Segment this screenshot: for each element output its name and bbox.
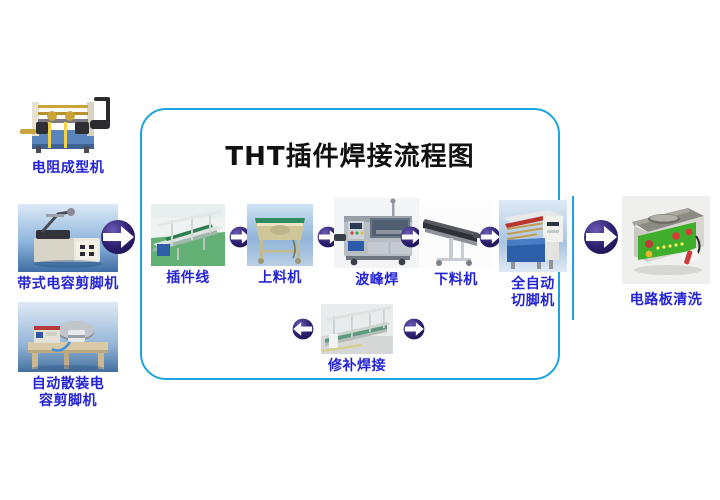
arrow-into-flow-icon [100, 219, 136, 255]
diagram-canvas: 电阻成型机 [0, 0, 720, 500]
pcb-cleaner-illustration [622, 196, 710, 284]
arrow-out-of-flow-icon [583, 219, 619, 255]
input-item-resistor-forming-machine: 电阻成型机 [12, 82, 124, 177]
rework-soldering-line-image [321, 304, 393, 354]
arrow-rework-out-icon [403, 318, 425, 340]
input-item-label: 电阻成型机 [32, 160, 105, 177]
pcb-cleaner-image [622, 196, 710, 284]
page-title: THT插件焊接流程图 [140, 136, 560, 173]
flow-step-label: 下料机 [434, 272, 478, 289]
output-item-label: 电路板清洗 [630, 292, 703, 309]
insertion-line-image [151, 204, 225, 266]
arrow-rework-in-icon [292, 318, 314, 340]
loader-illustration [247, 204, 313, 266]
flow-step-insertion-line: 插件线 [150, 204, 226, 287]
auto-lead-cutter-image [499, 200, 567, 272]
flow-step-label: 上料机 [258, 270, 302, 287]
flow-step-loader: 上料机 [246, 204, 314, 287]
flow-step-label: 波峰焊 [355, 272, 399, 289]
input-item-label: 带式电容剪脚机 [17, 276, 119, 293]
flow-step-label: 全自动 切脚机 [511, 276, 555, 310]
output-item-pcb-cleaner: 电路板清洗 [620, 196, 712, 309]
loader-image [247, 204, 313, 266]
flow-step-label: 修补焊接 [328, 358, 386, 375]
auto-lead-cutter-illustration [499, 200, 567, 272]
auto-bulk-capacitor-lead-cutter-illustration [18, 302, 118, 372]
flow-step-label: 插件线 [166, 270, 210, 287]
flow-step-auto-lead-cutter: 全自动 切脚机 [498, 200, 568, 310]
flow-step-rework-soldering-line: 修补焊接 [320, 304, 394, 375]
resistor-forming-machine-illustration [18, 82, 118, 160]
auto-bulk-capacitor-lead-cutter-image [18, 302, 118, 372]
input-item-label: 自动散装电 容剪脚机 [32, 376, 105, 410]
input-item-auto-bulk-capacitor-lead-cutter: 自动散装电 容剪脚机 [12, 302, 124, 410]
section-divider [572, 196, 574, 320]
rework-soldering-line-illustration [321, 304, 393, 354]
resistor-forming-machine-image [18, 82, 118, 160]
insertion-line-illustration [151, 204, 225, 266]
